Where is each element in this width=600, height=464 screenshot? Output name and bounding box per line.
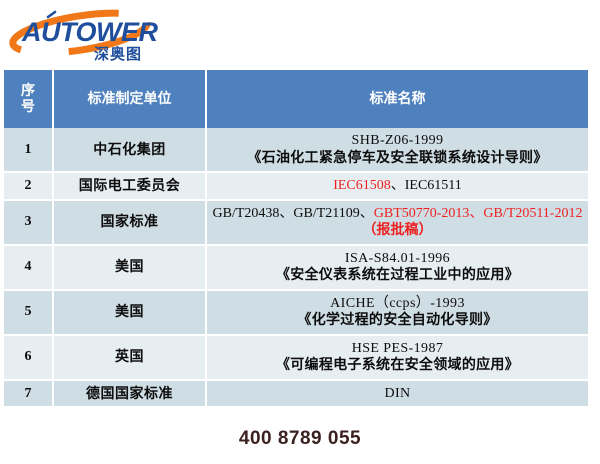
table-row: 1 中石化集团 SHB-Z06-1999 《石油化工紧急停车及安全联锁系统设计导… [4,128,588,172]
column-header-standard-name: 标准名称 [206,70,588,128]
row-standard-name: SHB-Z06-1999 《石油化工紧急停车及安全联锁系统设计导则》 [206,128,588,172]
logo-chinese-name: 深奥图 [94,45,142,63]
table-row: 2 国际电工委员会 IEC61508、IEC61511 [4,172,588,200]
row-organization: 英国 [53,335,206,380]
company-logo: AUTOWER 深奥图 [8,8,188,64]
standard-title: 《可编程电子系统在安全领域的应用》 [210,357,585,375]
logo-graphic: AUTOWER 深奥图 [8,8,188,64]
table-row: 6 英国 HSE PES-1987 《可编程电子系统在安全领域的应用》 [4,335,588,380]
row-organization: 美国 [53,245,206,290]
row-organization: 美国 [53,290,206,335]
standard-code: AICHE（ccps）-1993 [210,295,585,313]
row-no: 2 [4,172,53,200]
standard-code-highlight: GBT50770-2013、GB/T [374,206,516,221]
row-standard-name: HSE PES-1987 《可编程电子系统在安全领域的应用》 [206,335,588,380]
row-organization: 德国国家标准 [53,380,206,408]
table-row: 5 美国 AICHE（ccps）-1993 《化学过程的安全自动化导则》 [4,290,588,335]
row-no: 1 [4,128,53,172]
standard-code: GB/T20438、GB/T21109、 [213,206,374,221]
row-no: 7 [4,380,53,408]
row-organization: 国家标准 [53,200,206,245]
table-row: 7 德国国家标准 DIN [4,380,588,408]
row-no: 6 [4,335,53,380]
table-row: 3 国家标准 GB/T20438、GB/T21109、GBT50770-2013… [4,200,588,245]
standard-title: 《石油化工紧急停车及安全联锁系统设计导则》 [210,150,585,168]
row-organization: 国际电工委员会 [53,172,206,200]
row-standard-name: GB/T20438、GB/T21109、GBT50770-2013、GB/T20… [206,200,588,245]
column-header-organization: 标准制定单位 [53,70,206,128]
row-no: 3 [4,200,53,245]
row-no: 5 [4,290,53,335]
standard-code: DIN [210,385,585,403]
table-header-row: 序 号 标准制定单位 标准名称 [4,70,588,128]
standard-code-highlight: IEC61508 [333,178,391,193]
column-header-no: 序 号 [4,70,53,128]
column-header-no-line1: 序 [6,83,50,99]
standard-title: 《安全仪表系统在过程工业中的应用》 [210,267,585,285]
standard-status-note: （报批稿） [363,223,433,238]
row-standard-name: DIN [206,380,588,408]
row-standard-name: ISA-S84.01-1996 《安全仪表系统在过程工业中的应用》 [206,245,588,290]
standard-title: 《化学过程的安全自动化导则》 [210,312,585,330]
row-standard-name: IEC61508、IEC61511 [206,172,588,200]
row-no: 4 [4,245,53,290]
row-standard-name: AICHE（ccps）-1993 《化学过程的安全自动化导则》 [206,290,588,335]
standards-table: 序 号 标准制定单位 标准名称 1 中石化集团 SHB-Z06-1999 《石油… [4,70,588,408]
contact-phone-number: 400 8789 055 [0,428,600,450]
row-organization: 中石化集团 [53,128,206,172]
standard-code: HSE PES-1987 [210,340,585,358]
logo-wordmark: AUTOWER [21,17,158,47]
standard-code: 、IEC61511 [391,178,462,193]
column-header-no-line2: 号 [6,99,50,115]
standard-code: ISA-S84.01-1996 [210,250,585,268]
table-row: 4 美国 ISA-S84.01-1996 《安全仪表系统在过程工业中的应用》 [4,245,588,290]
standard-code-highlight-2: 20511-2012 [515,206,582,221]
standard-code: SHB-Z06-1999 [210,132,585,150]
